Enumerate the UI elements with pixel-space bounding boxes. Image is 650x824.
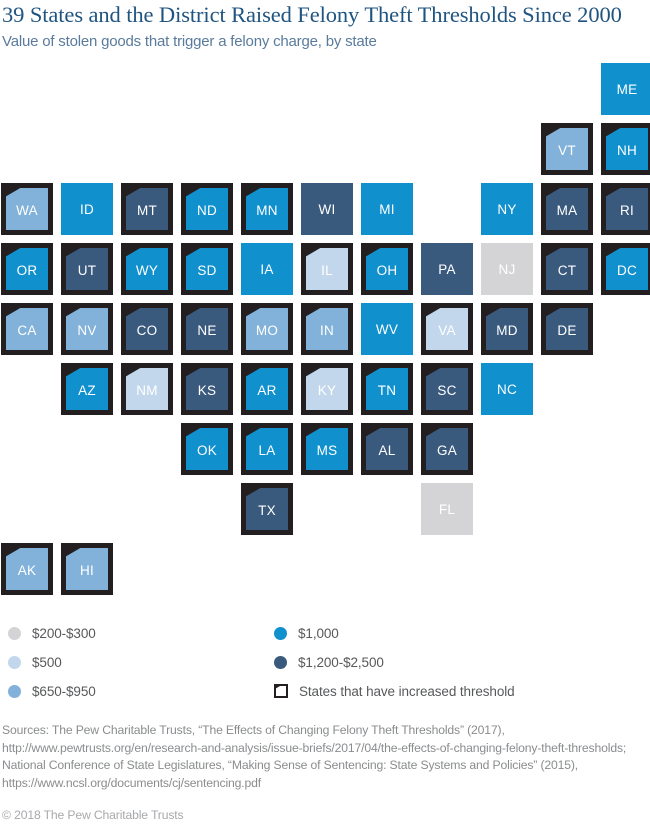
state-cell-tx: TX: [241, 483, 293, 535]
state-fill: [546, 308, 588, 350]
state-fill: [6, 188, 48, 230]
state-fill: [606, 128, 648, 170]
increased-threshold-swatch-icon: [274, 684, 288, 698]
state-fill: [421, 243, 473, 295]
state-cell-ny: NY: [481, 183, 533, 235]
state-cell-ca: CA: [1, 303, 53, 355]
state-fill: [6, 248, 48, 290]
state-cell-sd: SD: [181, 243, 233, 295]
state-cell-ga: GA: [421, 423, 473, 475]
state-fill: [546, 128, 588, 170]
state-fill: [6, 548, 48, 590]
state-cell-wa: WA: [1, 183, 53, 235]
state-fill: [421, 483, 473, 535]
state-cell-ky: KY: [301, 363, 353, 415]
state-cell-id: ID: [61, 183, 113, 235]
state-cell-ak: AK: [1, 543, 53, 595]
state-fill: [546, 248, 588, 290]
state-fill: [361, 183, 413, 235]
state-fill: [361, 303, 413, 355]
state-cell-al: AL: [361, 423, 413, 475]
state-cell-co: CO: [121, 303, 173, 355]
state-cell-mt: MT: [121, 183, 173, 235]
legend-item: $1,000: [274, 624, 339, 642]
state-fill: [426, 368, 468, 410]
legend-label: States that have increased threshold: [299, 684, 515, 699]
state-cell-wv: WV: [361, 303, 413, 355]
state-cell-de: DE: [541, 303, 593, 355]
state-fill: [366, 368, 408, 410]
legend-item: $200-$300: [8, 624, 96, 642]
state-fill: [306, 248, 348, 290]
state-fill: [246, 308, 288, 350]
legend: $200-$300$500$650-$950$1,000$1,200-$2,50…: [8, 624, 628, 710]
state-fill: [366, 248, 408, 290]
state-cell-sc: SC: [421, 363, 473, 415]
state-cell-ok: OK: [181, 423, 233, 475]
state-fill: [186, 188, 228, 230]
state-cell-fl: FL: [421, 483, 473, 535]
state-cell-dc: DC: [601, 243, 650, 295]
state-fill: [186, 308, 228, 350]
state-fill: [601, 63, 650, 115]
state-fill: [606, 188, 648, 230]
state-cell-nv: NV: [61, 303, 113, 355]
state-fill: [66, 368, 108, 410]
state-fill: [426, 428, 468, 470]
legend-swatch-icon: [8, 656, 21, 669]
legend-item: $650-$950: [8, 682, 96, 700]
state-fill: [481, 363, 533, 415]
state-fill: [186, 368, 228, 410]
state-cell-wi: WI: [301, 183, 353, 235]
legend-label: $500: [32, 655, 62, 670]
state-fill: [546, 188, 588, 230]
state-cell-in: IN: [301, 303, 353, 355]
state-cell-va: VA: [421, 303, 473, 355]
state-cell-ms: MS: [301, 423, 353, 475]
state-fill: [6, 308, 48, 350]
state-cell-nm: NM: [121, 363, 173, 415]
state-cell-tn: TN: [361, 363, 413, 415]
state-fill: [246, 368, 288, 410]
state-fill: [301, 183, 353, 235]
state-cell-nh: NH: [601, 123, 650, 175]
state-fill: [126, 368, 168, 410]
state-cell-ia: IA: [241, 243, 293, 295]
state-fill: [426, 308, 468, 350]
state-fill: [126, 248, 168, 290]
legend-swatch-icon: [8, 685, 21, 698]
state-fill: [61, 183, 113, 235]
state-cell-me: ME: [601, 63, 650, 115]
state-fill: [66, 548, 108, 590]
state-fill: [246, 428, 288, 470]
legend-item: States that have increased threshold: [274, 682, 515, 700]
state-cell-mn: MN: [241, 183, 293, 235]
state-fill: [186, 428, 228, 470]
state-cell-oh: OH: [361, 243, 413, 295]
state-fill: [306, 308, 348, 350]
state-fill: [481, 183, 533, 235]
legend-swatch-icon: [8, 627, 21, 640]
state-cell-md: MD: [481, 303, 533, 355]
state-cell-az: AZ: [61, 363, 113, 415]
state-cell-nd: ND: [181, 183, 233, 235]
state-fill: [186, 248, 228, 290]
state-cell-wy: WY: [121, 243, 173, 295]
state-cell-mi: MI: [361, 183, 413, 235]
state-fill: [126, 188, 168, 230]
state-fill: [486, 308, 528, 350]
legend-item: $1,200-$2,500: [274, 653, 384, 671]
state-fill: [246, 488, 288, 530]
legend-swatch-icon: [274, 627, 287, 640]
state-cell-nj: NJ: [481, 243, 533, 295]
sources-note: Sources: The Pew Charitable Trusts, “The…: [2, 722, 642, 792]
legend-label: $200-$300: [32, 626, 96, 641]
state-fill: [306, 428, 348, 470]
state-fill: [481, 243, 533, 295]
legend-label: $1,200-$2,500: [298, 655, 384, 670]
legend-label: $1,000: [298, 626, 339, 641]
state-cell-ne: NE: [181, 303, 233, 355]
state-cell-nc: NC: [481, 363, 533, 415]
state-cell-ut: UT: [61, 243, 113, 295]
state-fill: [126, 308, 168, 350]
state-cell-pa: PA: [421, 243, 473, 295]
state-cell-hi: HI: [61, 543, 113, 595]
legend-swatch-icon: [274, 656, 287, 669]
chart-footer: Sources: The Pew Charitable Trusts, “The…: [2, 722, 642, 824]
state-cartogram: MEVTNHWAIDMTNDMNWIMINYMARIORUTWYSDIAILOH…: [0, 0, 650, 600]
state-cell-mo: MO: [241, 303, 293, 355]
state-cell-ct: CT: [541, 243, 593, 295]
legend-item: $500: [8, 653, 62, 671]
state-cell-vt: VT: [541, 123, 593, 175]
state-fill: [366, 428, 408, 470]
state-fill: [606, 248, 648, 290]
state-fill: [306, 368, 348, 410]
state-cell-ar: AR: [241, 363, 293, 415]
state-cell-ks: KS: [181, 363, 233, 415]
state-cell-la: LA: [241, 423, 293, 475]
state-fill: [66, 248, 108, 290]
state-cell-ri: RI: [601, 183, 650, 235]
state-fill: [66, 308, 108, 350]
state-cell-il: IL: [301, 243, 353, 295]
state-fill: [241, 243, 293, 295]
legend-label: $650-$950: [32, 684, 96, 699]
state-cell-ma: MA: [541, 183, 593, 235]
state-cell-or: OR: [1, 243, 53, 295]
state-fill: [246, 188, 288, 230]
